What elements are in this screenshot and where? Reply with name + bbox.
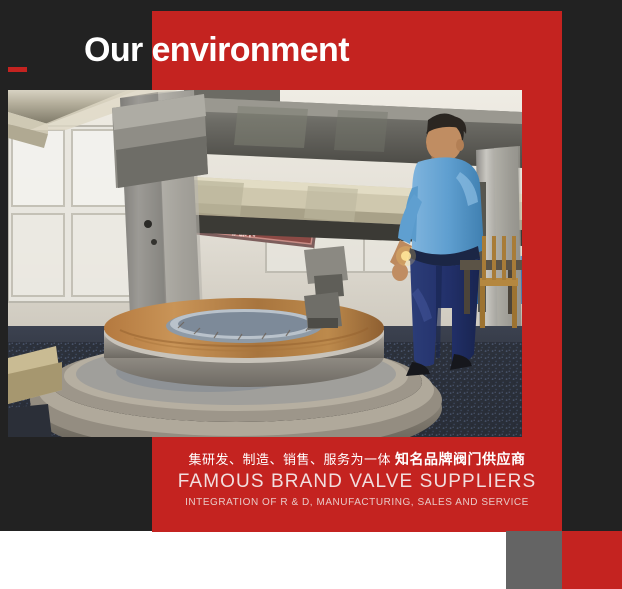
- caption-block: 集研发、制造、销售、服务为一体知名品牌阀门供应商 FAMOUS BRAND VA…: [152, 448, 562, 520]
- page-title: Our environment: [84, 28, 349, 72]
- factory-photo: 齐齐哈尔第一机床: [8, 90, 522, 437]
- caption-english-sub: INTEGRATION OF R & D, MANUFACTURING, SAL…: [152, 494, 562, 512]
- caption-english-main: FAMOUS BRAND VALVE SUPPLIERS: [152, 470, 562, 494]
- red-accent-block: [562, 531, 622, 589]
- page-root: Our environment: [0, 0, 622, 589]
- red-dash-accent: [8, 67, 27, 72]
- caption-chinese-row: 集研发、制造、销售、服务为一体知名品牌阀门供应商: [152, 448, 562, 470]
- caption-chinese-bold: 知名品牌阀门供应商: [395, 451, 526, 467]
- gray-accent-block: [506, 531, 562, 589]
- caption-chinese-thin: 集研发、制造、销售、服务为一体: [188, 452, 391, 467]
- factory-photo-artwork: 齐齐哈尔第一机床: [8, 90, 522, 437]
